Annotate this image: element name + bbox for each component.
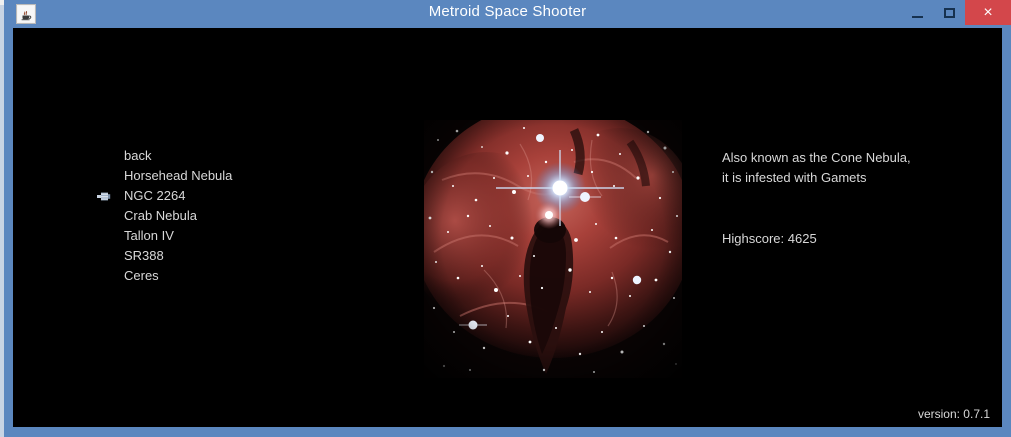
screen-root: File Source Refactor Navigate Search Pro… xyxy=(0,0,1011,437)
planet-description-line-2: it is infested with Gamets xyxy=(722,168,992,188)
planet-select-menu: back Horsehead Nebula NGC 2264 xyxy=(113,146,373,286)
planet-info-panel: Also known as the Cone Nebula, it is inf… xyxy=(722,148,992,249)
menu-item-tallon-iv[interactable]: Tallon IV xyxy=(113,226,373,246)
menu-item-label: back xyxy=(124,146,151,166)
minimize-button[interactable] xyxy=(901,0,933,25)
minimize-icon xyxy=(912,16,923,18)
menu-item-label: Crab Nebula xyxy=(124,206,197,226)
planet-description-line-1: Also known as the Cone Nebula, xyxy=(722,148,992,168)
menu-item-back[interactable]: back xyxy=(113,146,373,166)
maximize-button[interactable] xyxy=(933,0,965,25)
menu-item-label: SR388 xyxy=(124,246,164,266)
menu-item-label: Horsehead Nebula xyxy=(124,166,232,186)
highscore-label: Highscore: 4625 xyxy=(722,229,992,249)
menu-item-label: Tallon IV xyxy=(124,226,174,246)
window-title: Metroid Space Shooter xyxy=(4,3,1011,20)
version-label: version: 0.7.1 xyxy=(918,407,990,421)
ship-cursor-icon xyxy=(97,192,111,201)
game-canvas[interactable]: back Horsehead Nebula NGC 2264 xyxy=(13,28,1002,427)
menu-item-ceres[interactable]: Ceres xyxy=(113,266,373,286)
menu-item-horsehead-nebula[interactable]: Horsehead Nebula xyxy=(113,166,373,186)
cone-nebula-ngc2264-image xyxy=(424,120,682,378)
application-window: Metroid Space Shooter × back Horsehead N… xyxy=(4,0,1011,437)
menu-item-ngc-2264[interactable]: NGC 2264 xyxy=(113,186,373,206)
menu-item-label: NGC 2264 xyxy=(124,186,185,206)
window-controls: × xyxy=(901,0,1011,25)
title-bar[interactable]: Metroid Space Shooter × xyxy=(4,0,1011,28)
menu-item-crab-nebula[interactable]: Crab Nebula xyxy=(113,206,373,226)
menu-item-sr388[interactable]: SR388 xyxy=(113,246,373,266)
close-button[interactable]: × xyxy=(965,0,1011,25)
menu-item-label: Ceres xyxy=(124,266,159,286)
maximize-icon xyxy=(944,8,955,18)
